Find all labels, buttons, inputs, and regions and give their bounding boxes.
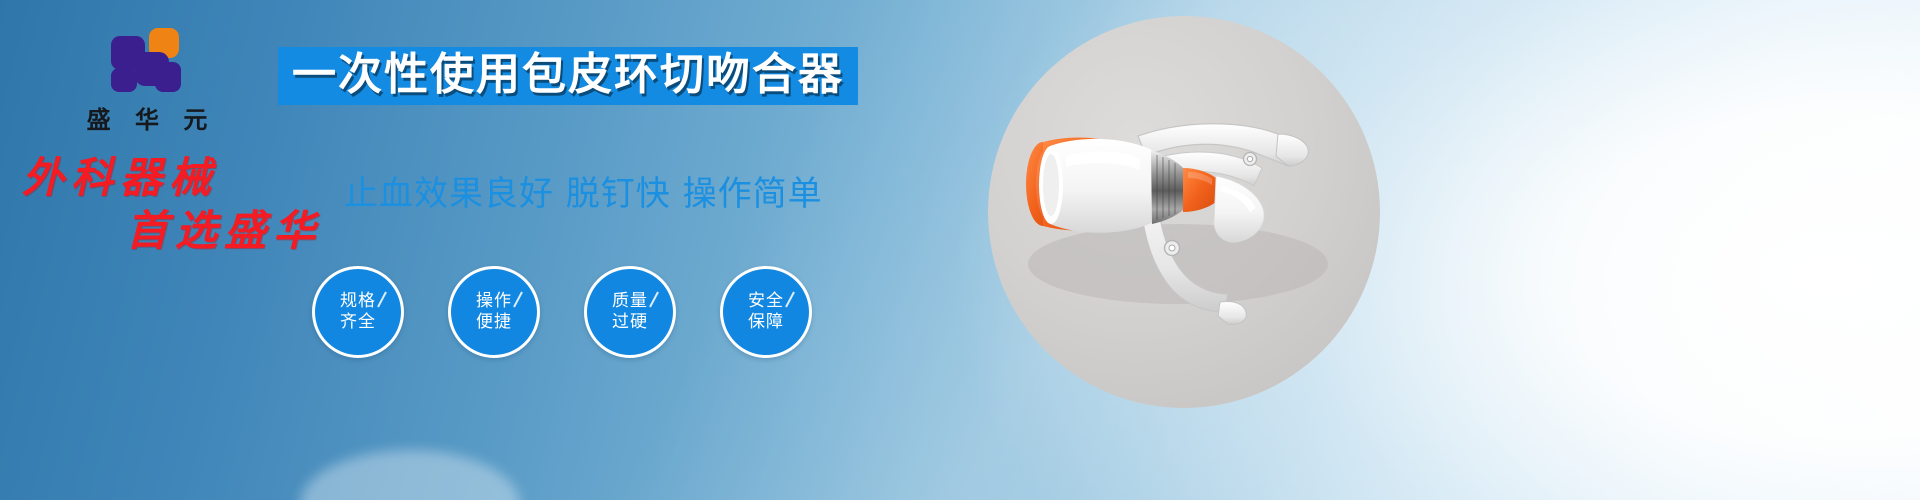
feature-line-2: 齐全 — [340, 312, 376, 333]
product-photo[interactable] — [988, 16, 1380, 408]
product-title-bar: 一次性使用包皮环切吻合器 — [278, 47, 858, 105]
product-device-illustration — [988, 16, 1380, 408]
slogan-calligraphy: 外科器械 首选盛华 — [22, 152, 342, 257]
logo-mark-icon — [111, 28, 183, 94]
feature-circle-quality[interactable]: 质量 过硬 — [584, 266, 676, 358]
feature-circle-safety[interactable]: 安全 保障 — [720, 266, 812, 358]
brand-name: 盛 华 元 — [62, 100, 232, 135]
feature-line-1: 质量 — [612, 291, 648, 312]
feature-circle-operation[interactable]: 操作 便捷 — [448, 266, 540, 358]
feature-line-2: 便捷 — [476, 312, 512, 333]
slash-icon — [377, 292, 387, 308]
slash-icon — [785, 292, 795, 308]
feature-line-2: 保障 — [748, 312, 784, 333]
feature-line-1: 操作 — [476, 291, 512, 312]
promo-banner: 盛 华 元 一次性使用包皮环切吻合器 外科器械 首选盛华 止血效果良好 脱钉快 … — [0, 0, 1920, 500]
slash-icon — [649, 292, 659, 308]
slogan-line-1: 外科器械 — [22, 152, 342, 205]
feature-line-2: 过硬 — [612, 312, 648, 333]
logo-block-e — [155, 62, 181, 92]
feature-line-1: 安全 — [748, 291, 784, 312]
slogan-line-2: 首选盛华 — [126, 205, 342, 258]
product-title: 一次性使用包皮环切吻合器 — [292, 49, 844, 100]
slash-icon — [513, 292, 523, 308]
product-subtitle: 止血效果良好 脱钉快 操作简单 — [344, 166, 823, 215]
background-blob — [300, 450, 520, 500]
brand-logo[interactable]: 盛 华 元 — [62, 28, 232, 135]
feature-circle-specification[interactable]: 规格 齐全 — [312, 266, 404, 358]
logo-block-d — [111, 68, 137, 92]
feature-circle-list: 规格 齐全 操作 便捷 质量 过硬 安全 保障 — [312, 266, 812, 358]
feature-line-1: 规格 — [340, 291, 376, 312]
